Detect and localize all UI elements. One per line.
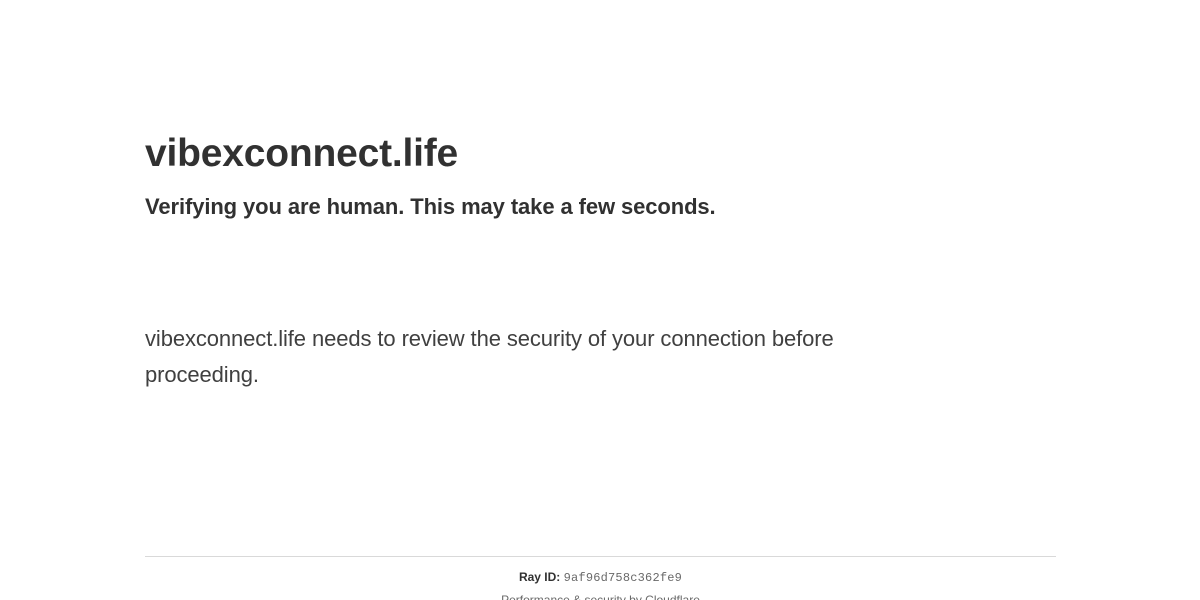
- main-content: vibexconnect.life Verifying you are huma…: [145, 0, 1056, 393]
- attribution-prefix: Performance & security by: [501, 593, 645, 600]
- footer: Ray ID: 9af96d758c362fe9 Performance & s…: [145, 556, 1056, 600]
- page-title: vibexconnect.life: [145, 131, 1056, 177]
- cloudflare-link[interactable]: Cloudflare: [645, 593, 700, 600]
- ray-id-label: Ray ID:: [519, 570, 560, 584]
- ray-id-line: Ray ID: 9af96d758c362fe9: [145, 570, 1056, 585]
- verification-status-text: Verifying you are human. This may take a…: [145, 193, 1056, 221]
- security-review-description: vibexconnect.life needs to review the se…: [145, 321, 945, 393]
- challenge-page: vibexconnect.life Verifying you are huma…: [0, 0, 1200, 600]
- ray-id-value: 9af96d758c362fe9: [564, 571, 682, 585]
- main-wrap: vibexconnect.life Verifying you are huma…: [145, 0, 1056, 393]
- attribution-line: Performance & security by Cloudflare: [145, 593, 1056, 600]
- footer-inner: Ray ID: 9af96d758c362fe9 Performance & s…: [145, 557, 1056, 600]
- challenge-widget-slot[interactable]: [145, 249, 445, 321]
